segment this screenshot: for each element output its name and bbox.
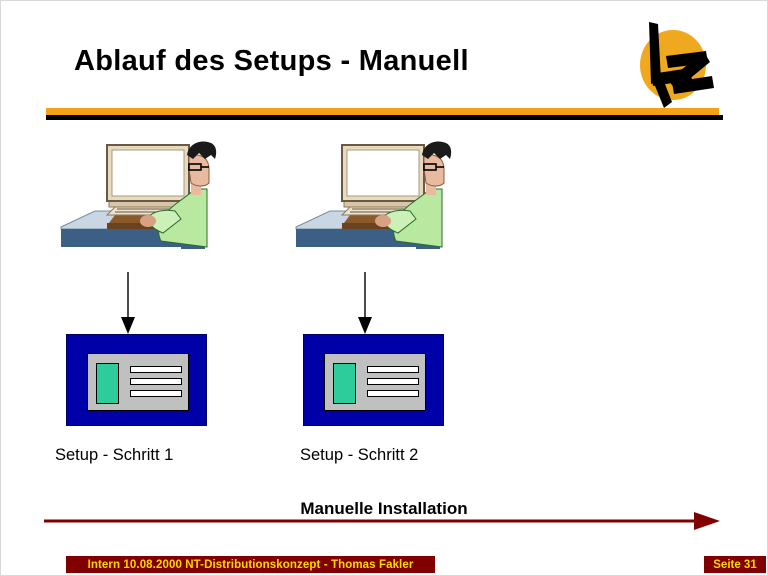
setup-dialog-graphic — [87, 353, 189, 411]
dialog-text-lines — [130, 366, 182, 397]
dialog-line — [367, 390, 419, 397]
footer-text: Intern 10.08.2000 NT-Distributionskonzep… — [66, 556, 435, 573]
dialog-line — [367, 366, 419, 373]
divider-bar-black — [46, 115, 723, 120]
setup-dialog-graphic — [324, 353, 426, 411]
dialog-accent-block — [96, 363, 119, 404]
dialog-line — [130, 378, 182, 385]
setup-step-box — [66, 334, 207, 426]
person-at-computer-icon — [55, 137, 220, 267]
page-title: Ablauf des Setups - Manuell — [74, 45, 469, 78]
dialog-line — [367, 378, 419, 385]
dialog-accent-block — [333, 363, 356, 404]
setup-step-box — [303, 334, 444, 426]
arrow-down-icon — [118, 272, 138, 334]
setup-step-label: Setup - Schritt 1 — [55, 446, 173, 465]
slide-canvas: Ablauf des Setups - Manuell — [0, 0, 768, 576]
setup-step-label: Setup - Schritt 2 — [300, 446, 418, 465]
logo-lz-mark-icon — [620, 18, 724, 110]
divider-bar-orange — [46, 108, 719, 115]
page-number-badge: Seite 31 — [704, 556, 766, 573]
arrow-down-icon — [355, 272, 375, 334]
dialog-text-lines — [367, 366, 419, 397]
dialog-line — [130, 390, 182, 397]
person-at-computer-icon — [290, 137, 455, 267]
arrow-right-icon — [44, 512, 720, 530]
dialog-line — [130, 366, 182, 373]
lz-logo — [620, 18, 724, 110]
